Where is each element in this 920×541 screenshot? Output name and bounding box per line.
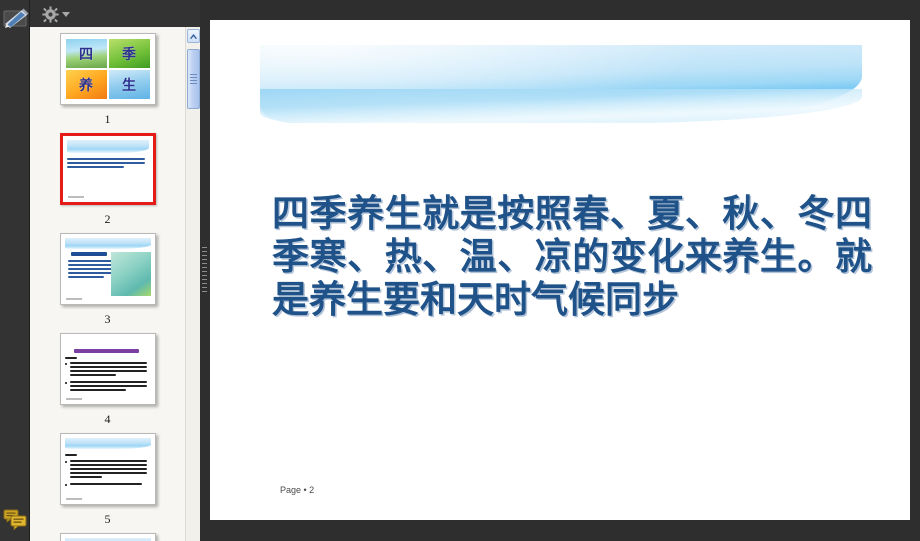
thumbnail-slide-2[interactable]: 2 [30,127,185,227]
thumbnail-slide-3[interactable]: 3 [30,227,185,327]
thumbnail-slide-4[interactable]: 4 [30,327,185,427]
slide-stage: 四季养生就是按照春、夏、秋、冬四季寒、热、温、凉的变化来养生。就是养生要和天时气… [210,0,920,541]
thumbnail-list[interactable]: 四 季 养 生 1 [30,27,185,541]
comments-icon[interactable] [2,505,30,533]
tile-char-3: 养 [66,70,107,99]
thumbnail-number: 2 [105,212,111,227]
thumbnail-number: 5 [105,512,111,527]
drag-dots-icon [202,244,208,300]
thumbnail-slide-5[interactable]: 5 [30,427,185,527]
thumbnail-number: 1 [105,112,111,127]
thumbnail-number: 3 [105,312,111,327]
slide-body-text: 四季养生就是按照春、夏、秋、冬四季寒、热、温、凉的变化来养生。就是养生要和天时气… [272,192,872,321]
thumbnail-scrollbar[interactable] [185,27,200,541]
scroll-up-button[interactable] [187,29,200,43]
gear-icon [42,6,59,23]
thumbnail-number: 4 [105,412,111,427]
grip-lines-icon [190,72,197,86]
left-tool-rail [0,0,30,541]
slide-page-footer: Page • 2 [280,485,314,495]
presentation-viewer-app: 四 季 养 生 1 [0,0,920,541]
settings-button[interactable] [42,3,78,25]
panel-splitter[interactable] [200,0,210,541]
thumbnail-preview: 四 季 养 生 [60,33,156,105]
tile-char-4: 生 [109,70,150,99]
thumbnail-toolbar [30,0,200,27]
thumbnail-preview [60,433,156,505]
thumbnail-preview [60,233,156,305]
current-slide[interactable]: 四季养生就是按照春、夏、秋、冬四季寒、热、温、凉的变化来养生。就是养生要和天时气… [210,20,910,520]
chevron-down-icon [62,12,70,17]
annotate-pen-icon[interactable] [2,6,30,34]
thumbnail-slide-1[interactable]: 四 季 养 生 1 [30,27,185,127]
thumbnail-slide-6[interactable]: 6 [30,527,185,541]
blue-swoosh-banner-icon [260,45,862,123]
tile-char-2: 季 [109,39,150,68]
scrollbar-thumb[interactable] [187,49,200,109]
thumbnail-preview [60,333,156,405]
thumbnail-preview-selected [60,133,156,205]
slide-content-placeholder[interactable]: 四季养生就是按照春、夏、秋、冬四季寒、热、温、凉的变化来养生。就是养生要和天时气… [272,192,872,321]
chevron-up-icon [189,33,198,40]
tile-char-1: 四 [66,39,107,68]
thumbnail-preview [60,533,156,541]
slide-thumbnail-panel: 四 季 养 生 1 [30,0,200,541]
